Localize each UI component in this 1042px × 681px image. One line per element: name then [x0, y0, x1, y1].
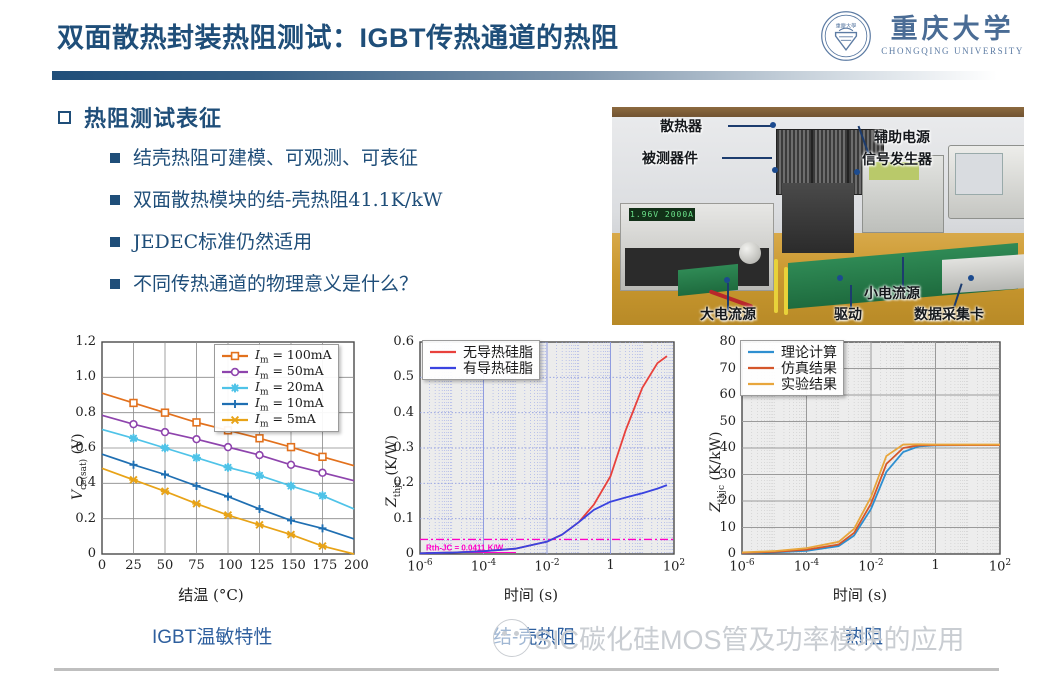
filled-square-bullet-icon: [110, 279, 120, 289]
footer-divider: [54, 668, 999, 671]
chart1-y-tick: 0.4: [56, 475, 96, 490]
chart2-x-axis-label: 时间 (s): [376, 584, 686, 605]
chart1-x-tick: 75: [187, 558, 207, 573]
svg-text:重慶大學: 重慶大學: [836, 21, 857, 29]
legend-swatch: [221, 349, 249, 363]
signal-generator: [948, 145, 1024, 219]
legend-item: Im = 5mA: [221, 412, 332, 428]
university-logo: 重慶大學 重庆大学 CHONGQING UNIVERSITY: [820, 8, 1024, 64]
chart1-x-tick: 125: [250, 558, 270, 573]
leader-dut: [722, 157, 772, 159]
chart2-y-tick: 0.6: [376, 334, 414, 349]
bullet-list: 结壳热阻可建模、可观测、可表征 双面散热模块的结-壳热阻41.1K/kW JED…: [110, 146, 580, 314]
photo-label-dut: 被测器件: [642, 148, 698, 168]
chart1-y-tick: 0.8: [56, 405, 96, 420]
legend-item: Im = 100mA: [221, 348, 332, 364]
chart1-x-tick: 50: [155, 558, 175, 573]
slide-root: 双面散热封装热阻测试：IGBT传热通道的热阻 重慶大學 重庆大学 CHONGQI…: [0, 0, 1042, 681]
chart1-y-tick: 1.2: [56, 334, 96, 349]
legend-swatch: [747, 377, 775, 391]
bullet-text: 不同传热通道的物理意义是什么？: [133, 272, 418, 296]
photo-label-driver: 驱动: [834, 304, 862, 324]
legend-swatch: [221, 381, 249, 395]
photo-label-high-current: 大电流源: [700, 304, 756, 324]
chart3-x-axis-label: 时间 (s): [700, 584, 1020, 605]
siggen-screen: [955, 153, 1003, 195]
list-item: JEDEC标准仍然适用: [110, 230, 580, 272]
chart2-y-tick: 0.4: [376, 405, 414, 420]
legend-swatch: [429, 361, 457, 375]
data-acquisition-card: [942, 254, 1024, 294]
legend-swatch: [747, 361, 775, 375]
watermark-badge-icon: [493, 619, 531, 657]
chart3-x-tick: 10-2: [853, 558, 889, 574]
university-seal-icon: 重慶大學: [820, 10, 872, 62]
legend-item: 有导热硅脂: [429, 360, 533, 376]
legend-item: Im = 10mA: [221, 396, 332, 412]
legend-swatch: [429, 345, 457, 359]
chart3-y-tick: 20: [700, 493, 736, 508]
watermark-text: SIC碳化硅MOS管及功率模块的应用: [534, 618, 965, 657]
list-item: 不同传热通道的物理意义是什么？: [110, 272, 580, 314]
chart-igbt-temperature-sensitivity: Vce(sat) (V) 结温 (°C) Im = 100mAIm = 50mA…: [56, 332, 366, 612]
psu-knob: [739, 242, 761, 264]
chart1-x-tick: 25: [124, 558, 144, 573]
chart3-y-tick: 30: [700, 467, 736, 482]
chart3-legend: 理论计算仿真结果实验结果: [740, 340, 844, 396]
chart3-x-tick: 10-4: [789, 558, 825, 574]
photo-label-small-current: 小电流源: [864, 283, 920, 303]
chart1-y-tick: 1.0: [56, 369, 96, 384]
chart1-y-tick: 0.6: [56, 440, 96, 455]
test-bench-photo: 1.96V 2000A 散热器 被测器件 辅助电源 信号发生器: [612, 107, 1024, 325]
yellow-wire-1: [774, 259, 778, 313]
legend-item: Im = 50mA: [221, 364, 332, 380]
legend-label: 有导热硅脂: [463, 358, 533, 378]
anchor-heatsink: [770, 122, 776, 128]
photo-label-heatsink: 散热器: [660, 116, 702, 136]
photo-label-signal-gen: 信号发生器: [862, 149, 932, 169]
photo-label-aux-power: 辅助电源: [874, 127, 930, 147]
chart2-y-tick: 0: [376, 546, 414, 561]
psu-display: 1.96V 2000A: [629, 208, 695, 221]
leader-heatsink: [728, 125, 772, 127]
chart3-y-tick: 40: [700, 440, 736, 455]
bullet-text: JEDEC标准仍然适用: [133, 230, 312, 254]
chart2-x-tick: 102: [656, 558, 692, 574]
legend-swatch: [221, 397, 249, 411]
bullet-text: 双面散热模块的结-壳热阻41.1K/kW: [133, 188, 442, 212]
legend-item: Im = 20mA: [221, 380, 332, 396]
chart3-x-tick: 102: [982, 558, 1018, 574]
chart3-y-tick: 0: [700, 546, 736, 561]
chart1-legend: Im = 100mAIm = 50mAIm = 20mAIm = 10mAIm …: [214, 344, 339, 432]
legend-label: 实验结果: [781, 374, 837, 394]
chart3-y-tick: 70: [700, 361, 736, 376]
photo-label-daq: 数据采集卡: [914, 304, 984, 324]
header-divider: [52, 71, 997, 80]
filled-square-bullet-icon: [110, 153, 120, 163]
anchor-dut: [772, 167, 778, 173]
chart1-y-tick: 0: [56, 546, 96, 561]
device-under-test: [782, 183, 854, 253]
logo-text-en: CHONGQING UNIVERSITY: [881, 47, 1024, 56]
chart2-x-tick: 1: [593, 558, 629, 573]
bullet-text: 结壳热阻可建模、可观测、可表征: [133, 146, 418, 170]
chart3-y-tick: 50: [700, 414, 736, 429]
chart3-x-tick: 1: [918, 558, 954, 573]
filled-square-bullet-icon: [110, 237, 120, 247]
chart1-y-tick: 0.2: [56, 511, 96, 526]
chart1-x-tick: 100: [218, 558, 238, 573]
chart-thermal-resistance-comparison: Zthjc (K/kW) 时间 (s) 理论计算仿真结果实验结果 10-610-…: [700, 332, 1020, 612]
open-square-bullet-icon: [58, 111, 71, 124]
list-item: 双面散热模块的结-壳热阻41.1K/kW: [110, 188, 580, 230]
legend-swatch: [221, 413, 249, 427]
logo-text-cn: 重庆大学: [891, 16, 1015, 43]
chart2-x-tick: 10-2: [529, 558, 565, 574]
anchor-daq: [968, 275, 974, 281]
legend-swatch: [747, 345, 775, 359]
chart1-x-tick: 150: [281, 558, 301, 573]
chart2-y-tick: 0.3: [376, 440, 414, 455]
chart2-x-tick: 10-4: [466, 558, 502, 574]
anchor-aux: [854, 169, 860, 175]
legend-item: 实验结果: [747, 376, 837, 392]
list-item: 结壳热阻可建模、可观测、可表征: [110, 146, 580, 188]
section-heading: 热阻测试表征: [58, 101, 222, 133]
chart3-y-tick: 80: [700, 334, 736, 349]
page-title: 双面散热封装热阻测试：IGBT传热通道的热阻: [57, 16, 757, 55]
anchor-driver: [837, 275, 843, 281]
filled-square-bullet-icon: [110, 195, 120, 205]
chart2-y-tick: 0.1: [376, 511, 414, 526]
caption-chart1: IGBT温敏特性: [152, 622, 272, 649]
anchor-high-current: [724, 277, 730, 283]
chart2-y-tick: 0.5: [376, 369, 414, 384]
chart-zth-jc-with-without-grease: Rth-JC = 0.0411 K/W Zthjc (K/W) 时间 (s) 无…: [376, 332, 686, 612]
chart2-legend: 无导热硅脂有导热硅脂: [422, 340, 540, 380]
section-heading-label: 热阻测试表征: [84, 101, 222, 133]
chart3-y-tick: 10: [700, 520, 736, 535]
legend-swatch: [221, 365, 249, 379]
chart3-y-tick: 60: [700, 387, 736, 402]
chart1-x-axis-label: 结温 (°C): [56, 584, 366, 605]
chart1-x-tick: 175: [313, 558, 333, 573]
yellow-wire-2: [784, 267, 788, 315]
chart2-y-tick: 0.2: [376, 475, 414, 490]
legend-label: Im = 5mA: [255, 411, 316, 430]
chart1-x-tick: 200: [344, 558, 364, 573]
